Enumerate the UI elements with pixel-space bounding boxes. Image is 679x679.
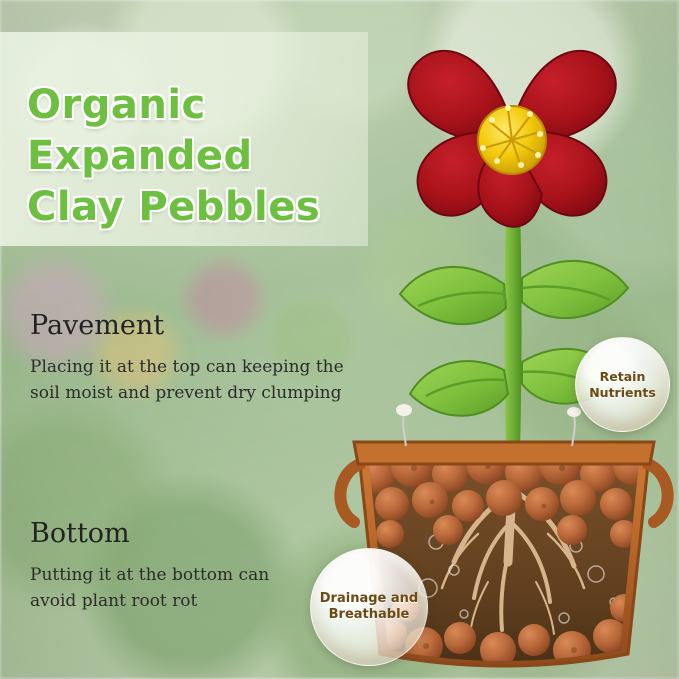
product-infographic: Organic Expanded Clay Pebbles Pavement P… bbox=[0, 0, 679, 679]
feature-bottom-body: Putting it at the bottom can avoid plant… bbox=[30, 562, 270, 614]
title-line-3: Clay Pebbles bbox=[27, 182, 377, 233]
badge-drainage-breathable-label: Drainage and Breathable bbox=[311, 591, 427, 623]
title-panel: Organic Expanded Clay Pebbles bbox=[0, 32, 368, 246]
feature-pavement: Pavement Placing it at the top can keepi… bbox=[30, 310, 350, 406]
badge-retain-nutrients: Retain Nutrients bbox=[575, 337, 670, 432]
badge-drainage-breathable: Drainage and Breathable bbox=[310, 548, 428, 666]
feature-pavement-body: Placing it at the top can keeping the so… bbox=[30, 354, 346, 406]
feature-bottom-heading: Bottom bbox=[30, 518, 350, 550]
badge-retain-nutrients-label: Retain Nutrients bbox=[576, 369, 669, 401]
page-title: Organic Expanded Clay Pebbles bbox=[27, 80, 377, 233]
title-line-1: Organic bbox=[27, 80, 377, 131]
feature-bottom: Bottom Putting it at the bottom can avoi… bbox=[30, 518, 350, 614]
feature-pavement-heading: Pavement bbox=[30, 310, 350, 342]
title-line-2: Expanded bbox=[27, 131, 377, 182]
